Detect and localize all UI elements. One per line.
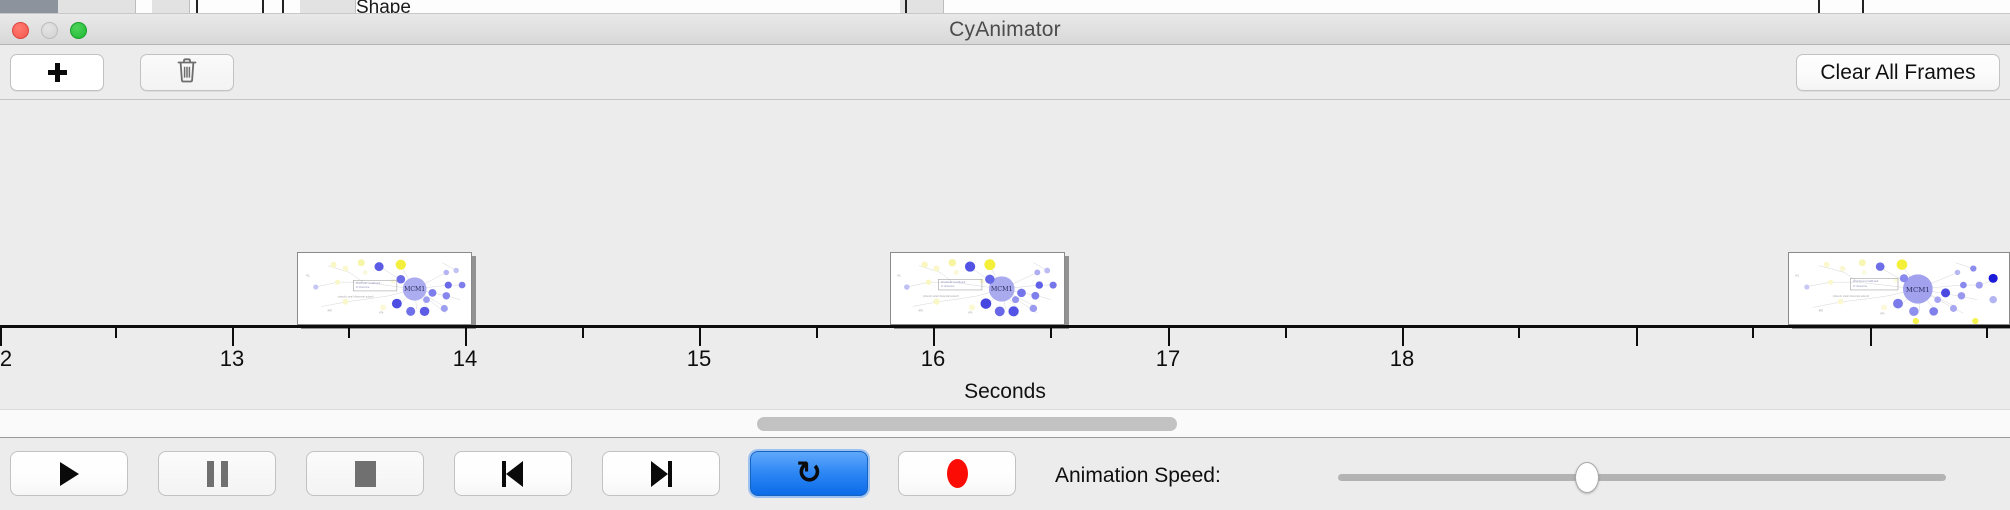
axis-tick-major (0, 328, 2, 346)
timeline-scrollbar-thumb[interactable] (757, 417, 1177, 431)
axis-tick-major (1168, 328, 1170, 346)
axis-caption: Seconds (0, 380, 2010, 404)
svg-text:cytosolic small ribosomal subu: cytosolic small ribosomal subunit (1833, 295, 1869, 298)
skip-to-end-button[interactable] (602, 451, 720, 496)
network-graph-thumbnail: structural constituent of ribosome MCM1 … (891, 253, 1064, 324)
background-window-chip (58, 0, 136, 14)
animation-speed-slider[interactable] (1338, 474, 1946, 481)
frame-thumbnail[interactable]: structural constituent of ribosome MCM1 … (890, 252, 1065, 325)
background-window-divider (196, 0, 198, 14)
window-title: CyAnimator (0, 14, 2010, 45)
pause-button[interactable] (158, 451, 276, 496)
axis-tick-label: 15 (687, 346, 711, 372)
axis-tick-minor (1986, 328, 1988, 338)
timeline-panel[interactable]: structural constituent of ribosome MCM1 … (0, 100, 2010, 409)
svg-text:MCM1: MCM1 (991, 286, 1013, 293)
loop-button[interactable]: ↻ (750, 451, 868, 496)
animation-speed-track[interactable] (1338, 474, 1946, 481)
animation-speed-label: Animation Speed: (1055, 464, 1221, 488)
svg-text:structural constituent: structural constituent (941, 281, 966, 284)
svg-text:RPS: RPS (919, 309, 924, 312)
skip-to-start-button[interactable] (454, 451, 572, 496)
axis-tick-major (699, 328, 701, 346)
skip-backward-icon (500, 461, 526, 487)
svg-text:of ribosome: of ribosome (1853, 285, 1868, 288)
background-window: Shape (0, 0, 2010, 14)
record-button[interactable] (898, 451, 1016, 496)
timeline-scrollbar-track[interactable] (0, 409, 2010, 438)
axis-tick-minor (1518, 328, 1520, 338)
axis-tick-minor (1752, 328, 1754, 338)
cyanimator-window: CyAnimator Clear All Frames (0, 14, 2010, 510)
loop-icon: ↻ (796, 458, 822, 489)
clear-all-frames-button[interactable]: Clear All Frames (1796, 54, 2000, 91)
background-window-divider (282, 0, 284, 14)
plus-icon (48, 63, 67, 82)
svg-text:cytosolic small ribosomal subu: cytosolic small ribosomal subunit (923, 295, 959, 298)
window-titlebar: CyAnimator (0, 14, 2010, 45)
animation-speed-thumb[interactable] (1575, 462, 1599, 493)
playback-controls-bar: ↻ Animation Speed: (0, 438, 2010, 510)
record-icon (947, 459, 968, 488)
background-window-divider (1818, 0, 1820, 14)
axis-tick-minor (816, 328, 818, 338)
background-window-divider (1862, 0, 1864, 14)
background-window-dark-chip (0, 0, 58, 14)
play-icon (60, 462, 79, 486)
add-frame-button[interactable] (10, 54, 104, 91)
svg-text:MCM1: MCM1 (404, 286, 425, 293)
pause-icon (207, 461, 228, 487)
axis-tick-major (1636, 328, 1638, 346)
axis-tick-minor (115, 328, 117, 338)
clear-all-frames-label: Clear All Frames (1820, 61, 1975, 85)
axis-tick-major (465, 328, 467, 346)
svg-text:cytosolic small ribosomal subu: cytosolic small ribosomal subunit (338, 296, 374, 299)
svg-text:structural constituent: structural constituent (1853, 280, 1879, 283)
axis-tick-label: 17 (1156, 346, 1180, 372)
svg-text:HTA: HTA (379, 311, 384, 314)
axis-tick-minor (348, 328, 350, 338)
axis-tick-minor (1285, 328, 1287, 338)
trash-icon (176, 57, 198, 88)
toolbar: Clear All Frames (0, 45, 2010, 100)
background-window-chip (300, 0, 356, 14)
axis-tick-major (232, 328, 234, 346)
svg-text:MCM1: MCM1 (1906, 286, 1930, 294)
network-graph-thumbnail: structural constituent of ribosome MCM1 … (298, 253, 471, 324)
svg-text:structural constituent: structural constituent (356, 282, 381, 285)
axis-tick-label: 14 (453, 346, 477, 372)
background-window-divider (262, 0, 264, 14)
stop-icon (355, 461, 376, 487)
axis-tick-minor (582, 328, 584, 338)
delete-frame-button[interactable] (140, 54, 234, 91)
frame-thumbnail[interactable]: structural constituent of ribosome MCM1 … (1788, 252, 2010, 325)
axis-tick-label: 18 (1390, 346, 1414, 372)
svg-text:HTA: HTA (1880, 312, 1885, 315)
svg-text:of ribosome: of ribosome (356, 286, 370, 289)
axis-tick-major (933, 328, 935, 346)
network-graph-thumbnail: structural constituent of ribosome MCM1 … (1789, 253, 2009, 324)
axis-tick-label: 16 (921, 346, 945, 372)
axis-tick-label: 2 (0, 346, 12, 372)
frame-thumbnail[interactable]: structural constituent of ribosome MCM1 … (297, 252, 472, 325)
svg-text:HTA: HTA (968, 311, 973, 314)
axis-tick-minor (1050, 328, 1052, 338)
background-window-divider (905, 0, 907, 14)
svg-text:RPS: RPS (328, 309, 333, 312)
background-window-chip (152, 0, 190, 14)
axis-tick-label: 13 (220, 346, 244, 372)
axis-tick-major (1402, 328, 1404, 346)
skip-forward-icon (648, 461, 674, 487)
stop-button[interactable] (306, 451, 424, 496)
timeline-axis (0, 325, 2010, 328)
svg-text:of ribosome: of ribosome (941, 285, 955, 288)
axis-tick-major (1870, 328, 1872, 346)
play-button[interactable] (10, 451, 128, 496)
background-window-label: Shape (356, 0, 411, 14)
svg-text:RPS: RPS (1819, 309, 1824, 312)
